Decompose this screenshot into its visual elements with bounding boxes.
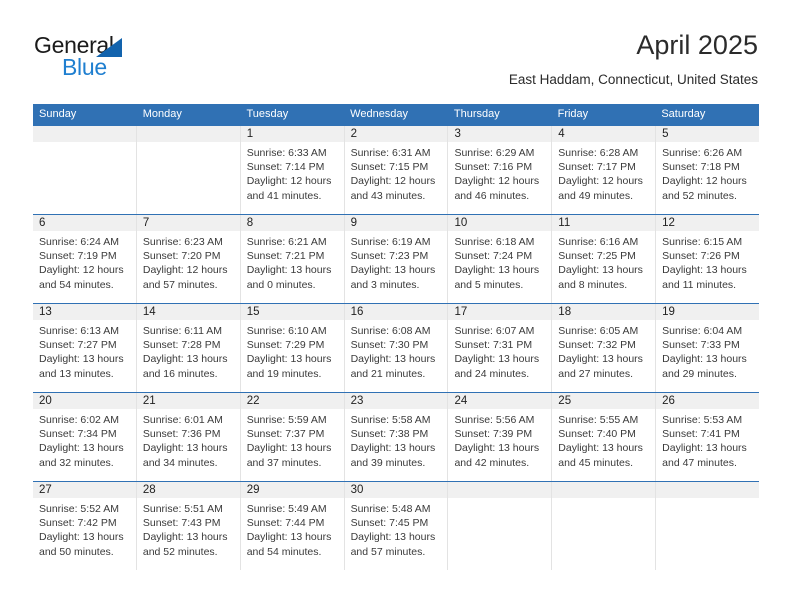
sunset-text: Sunset: 7:16 PM bbox=[454, 160, 545, 174]
weekday-header-saturday: Saturday bbox=[655, 104, 759, 125]
day-cell[interactable]: 11Sunrise: 6:16 AMSunset: 7:25 PMDayligh… bbox=[551, 215, 655, 303]
day-astronomy-info: Sunrise: 6:01 AMSunset: 7:36 PMDaylight:… bbox=[137, 409, 240, 470]
day-cell[interactable]: 9Sunrise: 6:19 AMSunset: 7:23 PMDaylight… bbox=[344, 215, 448, 303]
sunset-text: Sunset: 7:30 PM bbox=[351, 338, 442, 352]
sunset-text: Sunset: 7:34 PM bbox=[39, 427, 130, 441]
day-astronomy-info: Sunrise: 5:59 AMSunset: 7:37 PMDaylight:… bbox=[241, 409, 344, 470]
sunrise-text: Sunrise: 6:13 AM bbox=[39, 324, 130, 338]
weekday-header-wednesday: Wednesday bbox=[344, 104, 448, 125]
day-number: 15 bbox=[241, 304, 344, 320]
sunrise-text: Sunrise: 6:33 AM bbox=[247, 146, 338, 160]
day-astronomy-info: Sunrise: 6:13 AMSunset: 7:27 PMDaylight:… bbox=[33, 320, 136, 381]
day-number: 30 bbox=[345, 482, 448, 498]
day-astronomy-info: Sunrise: 5:58 AMSunset: 7:38 PMDaylight:… bbox=[345, 409, 448, 470]
weekday-header-sunday: Sunday bbox=[33, 104, 137, 125]
day-number: 22 bbox=[241, 393, 344, 409]
daylight-text-line1: Daylight: 12 hours bbox=[143, 263, 234, 277]
daylight-text-line2: and 50 minutes. bbox=[39, 545, 130, 559]
sunrise-text: Sunrise: 6:05 AM bbox=[558, 324, 649, 338]
day-cell-empty bbox=[33, 126, 136, 214]
sunrise-text: Sunrise: 5:55 AM bbox=[558, 413, 649, 427]
daylight-text-line2: and 21 minutes. bbox=[351, 367, 442, 381]
day-number: 28 bbox=[137, 482, 240, 498]
daylight-text-line1: Daylight: 13 hours bbox=[143, 530, 234, 544]
sunset-text: Sunset: 7:27 PM bbox=[39, 338, 130, 352]
sunset-text: Sunset: 7:45 PM bbox=[351, 516, 442, 530]
page-header: General Blue April 2025 East Haddam, Con… bbox=[34, 28, 758, 92]
sunrise-text: Sunrise: 6:16 AM bbox=[558, 235, 649, 249]
daylight-text-line2: and 34 minutes. bbox=[143, 456, 234, 470]
day-number: 10 bbox=[448, 215, 551, 231]
calendar-page: General Blue April 2025 East Haddam, Con… bbox=[0, 0, 792, 612]
weekday-header-monday: Monday bbox=[137, 104, 241, 125]
day-astronomy-info: Sunrise: 6:26 AMSunset: 7:18 PMDaylight:… bbox=[656, 142, 759, 203]
sunset-text: Sunset: 7:43 PM bbox=[143, 516, 234, 530]
daylight-text-line1: Daylight: 13 hours bbox=[351, 530, 442, 544]
sunset-text: Sunset: 7:39 PM bbox=[454, 427, 545, 441]
day-number: 2 bbox=[345, 126, 448, 142]
day-astronomy-info: Sunrise: 6:28 AMSunset: 7:17 PMDaylight:… bbox=[552, 142, 655, 203]
sunset-text: Sunset: 7:40 PM bbox=[558, 427, 649, 441]
daylight-text-line2: and 41 minutes. bbox=[247, 189, 338, 203]
day-cell[interactable]: 1Sunrise: 6:33 AMSunset: 7:14 PMDaylight… bbox=[240, 126, 344, 214]
daylight-text-line2: and 24 minutes. bbox=[454, 367, 545, 381]
sunrise-text: Sunrise: 5:51 AM bbox=[143, 502, 234, 516]
sunrise-text: Sunrise: 6:24 AM bbox=[39, 235, 130, 249]
week-row: 20Sunrise: 6:02 AMSunset: 7:34 PMDayligh… bbox=[33, 392, 759, 481]
day-number: 17 bbox=[448, 304, 551, 320]
weekday-header-friday: Friday bbox=[552, 104, 656, 125]
day-number: 9 bbox=[345, 215, 448, 231]
daylight-text-line2: and 11 minutes. bbox=[662, 278, 753, 292]
daylight-text-line2: and 43 minutes. bbox=[351, 189, 442, 203]
day-number: 21 bbox=[137, 393, 240, 409]
sunset-text: Sunset: 7:23 PM bbox=[351, 249, 442, 263]
day-number: 18 bbox=[552, 304, 655, 320]
daylight-text-line1: Daylight: 13 hours bbox=[247, 352, 338, 366]
sunset-text: Sunset: 7:24 PM bbox=[454, 249, 545, 263]
daylight-text-line2: and 54 minutes. bbox=[39, 278, 130, 292]
sunrise-text: Sunrise: 6:08 AM bbox=[351, 324, 442, 338]
day-cell[interactable]: 10Sunrise: 6:18 AMSunset: 7:24 PMDayligh… bbox=[447, 215, 551, 303]
sunset-text: Sunset: 7:28 PM bbox=[143, 338, 234, 352]
weekday-header-thursday: Thursday bbox=[448, 104, 552, 125]
daylight-text-line1: Daylight: 13 hours bbox=[558, 352, 649, 366]
sunset-text: Sunset: 7:29 PM bbox=[247, 338, 338, 352]
sunrise-text: Sunrise: 5:58 AM bbox=[351, 413, 442, 427]
daylight-text-line2: and 29 minutes. bbox=[662, 367, 753, 381]
daylight-text-line1: Daylight: 13 hours bbox=[454, 441, 545, 455]
daylight-text-line1: Daylight: 13 hours bbox=[247, 530, 338, 544]
day-cell[interactable]: 27Sunrise: 5:52 AMSunset: 7:42 PMDayligh… bbox=[33, 482, 136, 570]
sunset-text: Sunset: 7:38 PM bbox=[351, 427, 442, 441]
sunset-text: Sunset: 7:20 PM bbox=[143, 249, 234, 263]
day-astronomy-info: Sunrise: 5:55 AMSunset: 7:40 PMDaylight:… bbox=[552, 409, 655, 470]
daylight-text-line1: Daylight: 13 hours bbox=[662, 263, 753, 277]
day-astronomy-info: Sunrise: 6:08 AMSunset: 7:30 PMDaylight:… bbox=[345, 320, 448, 381]
daylight-text-line1: Daylight: 13 hours bbox=[454, 263, 545, 277]
day-cell[interactable]: 15Sunrise: 6:10 AMSunset: 7:29 PMDayligh… bbox=[240, 304, 344, 392]
sunrise-text: Sunrise: 5:56 AM bbox=[454, 413, 545, 427]
day-cell[interactable]: 22Sunrise: 5:59 AMSunset: 7:37 PMDayligh… bbox=[240, 393, 344, 481]
daylight-text-line2: and 5 minutes. bbox=[454, 278, 545, 292]
week-row: 27Sunrise: 5:52 AMSunset: 7:42 PMDayligh… bbox=[33, 481, 759, 570]
day-cell[interactable]: 5Sunrise: 6:26 AMSunset: 7:18 PMDaylight… bbox=[655, 126, 759, 214]
week-row: 6Sunrise: 6:24 AMSunset: 7:19 PMDaylight… bbox=[33, 214, 759, 303]
sunset-text: Sunset: 7:44 PM bbox=[247, 516, 338, 530]
daylight-text-line1: Daylight: 12 hours bbox=[558, 174, 649, 188]
daylight-text-line2: and 52 minutes. bbox=[143, 545, 234, 559]
day-cell[interactable]: 25Sunrise: 5:55 AMSunset: 7:40 PMDayligh… bbox=[551, 393, 655, 481]
week-row: 13Sunrise: 6:13 AMSunset: 7:27 PMDayligh… bbox=[33, 303, 759, 392]
sunrise-text: Sunrise: 5:48 AM bbox=[351, 502, 442, 516]
day-number bbox=[448, 482, 551, 498]
day-number: 13 bbox=[33, 304, 136, 320]
day-astronomy-info: Sunrise: 5:51 AMSunset: 7:43 PMDaylight:… bbox=[137, 498, 240, 559]
sunrise-text: Sunrise: 6:04 AM bbox=[662, 324, 753, 338]
daylight-text-line1: Daylight: 13 hours bbox=[247, 441, 338, 455]
day-cell[interactable]: 7Sunrise: 6:23 AMSunset: 7:20 PMDaylight… bbox=[136, 215, 240, 303]
day-number bbox=[33, 126, 136, 142]
daylight-text-line1: Daylight: 13 hours bbox=[247, 263, 338, 277]
daylight-text-line1: Daylight: 12 hours bbox=[351, 174, 442, 188]
daylight-text-line1: Daylight: 13 hours bbox=[39, 352, 130, 366]
day-cell[interactable]: 20Sunrise: 6:02 AMSunset: 7:34 PMDayligh… bbox=[33, 393, 136, 481]
sunset-text: Sunset: 7:25 PM bbox=[558, 249, 649, 263]
day-cell[interactable]: 26Sunrise: 5:53 AMSunset: 7:41 PMDayligh… bbox=[655, 393, 759, 481]
day-number: 26 bbox=[656, 393, 759, 409]
day-cell[interactable]: 8Sunrise: 6:21 AMSunset: 7:21 PMDaylight… bbox=[240, 215, 344, 303]
day-number: 4 bbox=[552, 126, 655, 142]
sunset-text: Sunset: 7:32 PM bbox=[558, 338, 649, 352]
day-astronomy-info: Sunrise: 5:49 AMSunset: 7:44 PMDaylight:… bbox=[241, 498, 344, 559]
sunset-text: Sunset: 7:18 PM bbox=[662, 160, 753, 174]
day-astronomy-info: Sunrise: 6:07 AMSunset: 7:31 PMDaylight:… bbox=[448, 320, 551, 381]
daylight-text-line2: and 0 minutes. bbox=[247, 278, 338, 292]
daylight-text-line1: Daylight: 13 hours bbox=[39, 530, 130, 544]
day-cell[interactable]: 3Sunrise: 6:29 AMSunset: 7:16 PMDaylight… bbox=[447, 126, 551, 214]
day-cell[interactable]: 24Sunrise: 5:56 AMSunset: 7:39 PMDayligh… bbox=[447, 393, 551, 481]
day-cell-empty bbox=[551, 482, 655, 570]
daylight-text-line1: Daylight: 13 hours bbox=[143, 441, 234, 455]
sunrise-text: Sunrise: 6:31 AM bbox=[351, 146, 442, 160]
day-cell[interactable]: 14Sunrise: 6:11 AMSunset: 7:28 PMDayligh… bbox=[136, 304, 240, 392]
sunrise-text: Sunrise: 5:52 AM bbox=[39, 502, 130, 516]
day-astronomy-info: Sunrise: 6:19 AMSunset: 7:23 PMDaylight:… bbox=[345, 231, 448, 292]
day-astronomy-info: Sunrise: 6:24 AMSunset: 7:19 PMDaylight:… bbox=[33, 231, 136, 292]
daylight-text-line1: Daylight: 12 hours bbox=[247, 174, 338, 188]
sunset-text: Sunset: 7:41 PM bbox=[662, 427, 753, 441]
sunrise-text: Sunrise: 6:19 AM bbox=[351, 235, 442, 249]
daylight-text-line1: Daylight: 13 hours bbox=[143, 352, 234, 366]
daylight-text-line2: and 3 minutes. bbox=[351, 278, 442, 292]
day-astronomy-info: Sunrise: 6:31 AMSunset: 7:15 PMDaylight:… bbox=[345, 142, 448, 203]
day-number: 25 bbox=[552, 393, 655, 409]
day-astronomy-info: Sunrise: 6:02 AMSunset: 7:34 PMDaylight:… bbox=[33, 409, 136, 470]
day-cell[interactable]: 23Sunrise: 5:58 AMSunset: 7:38 PMDayligh… bbox=[344, 393, 448, 481]
sunrise-text: Sunrise: 6:15 AM bbox=[662, 235, 753, 249]
sunrise-text: Sunrise: 6:18 AM bbox=[454, 235, 545, 249]
day-cell[interactable]: 30Sunrise: 5:48 AMSunset: 7:45 PMDayligh… bbox=[344, 482, 448, 570]
day-astronomy-info: Sunrise: 5:48 AMSunset: 7:45 PMDaylight:… bbox=[345, 498, 448, 559]
daylight-text-line1: Daylight: 13 hours bbox=[558, 441, 649, 455]
daylight-text-line2: and 37 minutes. bbox=[247, 456, 338, 470]
daylight-text-line1: Daylight: 13 hours bbox=[454, 352, 545, 366]
day-number: 11 bbox=[552, 215, 655, 231]
daylight-text-line2: and 13 minutes. bbox=[39, 367, 130, 381]
daylight-text-line1: Daylight: 12 hours bbox=[662, 174, 753, 188]
daylight-text-line1: Daylight: 13 hours bbox=[351, 441, 442, 455]
sunrise-text: Sunrise: 6:11 AM bbox=[143, 324, 234, 338]
daylight-text-line2: and 46 minutes. bbox=[454, 189, 545, 203]
daylight-text-line1: Daylight: 13 hours bbox=[662, 352, 753, 366]
day-cell[interactable]: 16Sunrise: 6:08 AMSunset: 7:30 PMDayligh… bbox=[344, 304, 448, 392]
day-cell-empty bbox=[136, 126, 240, 214]
day-number: 5 bbox=[656, 126, 759, 142]
day-astronomy-info: Sunrise: 6:23 AMSunset: 7:20 PMDaylight:… bbox=[137, 231, 240, 292]
sunrise-text: Sunrise: 6:01 AM bbox=[143, 413, 234, 427]
day-astronomy-info: Sunrise: 6:10 AMSunset: 7:29 PMDaylight:… bbox=[241, 320, 344, 381]
sunset-text: Sunset: 7:14 PM bbox=[247, 160, 338, 174]
sunset-text: Sunset: 7:31 PM bbox=[454, 338, 545, 352]
day-cell[interactable]: 19Sunrise: 6:04 AMSunset: 7:33 PMDayligh… bbox=[655, 304, 759, 392]
sunrise-text: Sunrise: 6:23 AM bbox=[143, 235, 234, 249]
day-number: 14 bbox=[137, 304, 240, 320]
day-number: 3 bbox=[448, 126, 551, 142]
daylight-text-line2: and 27 minutes. bbox=[558, 367, 649, 381]
daylight-text-line2: and 47 minutes. bbox=[662, 456, 753, 470]
day-astronomy-info: Sunrise: 6:29 AMSunset: 7:16 PMDaylight:… bbox=[448, 142, 551, 203]
daylight-text-line2: and 54 minutes. bbox=[247, 545, 338, 559]
daylight-text-line2: and 16 minutes. bbox=[143, 367, 234, 381]
day-cell[interactable]: 4Sunrise: 6:28 AMSunset: 7:17 PMDaylight… bbox=[551, 126, 655, 214]
day-astronomy-info: Sunrise: 6:11 AMSunset: 7:28 PMDaylight:… bbox=[137, 320, 240, 381]
day-number: 20 bbox=[33, 393, 136, 409]
sunset-text: Sunset: 7:37 PM bbox=[247, 427, 338, 441]
day-cell[interactable]: 6Sunrise: 6:24 AMSunset: 7:19 PMDaylight… bbox=[33, 215, 136, 303]
page-title: April 2025 bbox=[509, 28, 758, 62]
daylight-text-line2: and 8 minutes. bbox=[558, 278, 649, 292]
sunrise-text: Sunrise: 6:28 AM bbox=[558, 146, 649, 160]
daylight-text-line2: and 39 minutes. bbox=[351, 456, 442, 470]
sunset-text: Sunset: 7:42 PM bbox=[39, 516, 130, 530]
daylight-text-line1: Daylight: 12 hours bbox=[39, 263, 130, 277]
day-astronomy-info: Sunrise: 6:18 AMSunset: 7:24 PMDaylight:… bbox=[448, 231, 551, 292]
day-astronomy-info: Sunrise: 6:15 AMSunset: 7:26 PMDaylight:… bbox=[656, 231, 759, 292]
logo-text-blue: Blue bbox=[62, 54, 107, 81]
day-astronomy-info: Sunrise: 5:53 AMSunset: 7:41 PMDaylight:… bbox=[656, 409, 759, 470]
day-number: 7 bbox=[137, 215, 240, 231]
sunrise-text: Sunrise: 6:21 AM bbox=[247, 235, 338, 249]
sunrise-text: Sunrise: 6:10 AM bbox=[247, 324, 338, 338]
daylight-text-line2: and 32 minutes. bbox=[39, 456, 130, 470]
day-astronomy-info: Sunrise: 6:21 AMSunset: 7:21 PMDaylight:… bbox=[241, 231, 344, 292]
daylight-text-line1: Daylight: 13 hours bbox=[39, 441, 130, 455]
daylight-text-line1: Daylight: 13 hours bbox=[351, 263, 442, 277]
weekday-header-row: Sunday Monday Tuesday Wednesday Thursday… bbox=[33, 104, 759, 125]
day-number: 16 bbox=[345, 304, 448, 320]
day-number: 6 bbox=[33, 215, 136, 231]
day-number: 23 bbox=[345, 393, 448, 409]
calendar-grid: Sunday Monday Tuesday Wednesday Thursday… bbox=[33, 104, 759, 570]
day-number bbox=[137, 126, 240, 142]
day-cell[interactable]: 13Sunrise: 6:13 AMSunset: 7:27 PMDayligh… bbox=[33, 304, 136, 392]
day-cell[interactable]: 21Sunrise: 6:01 AMSunset: 7:36 PMDayligh… bbox=[136, 393, 240, 481]
day-astronomy-info: Sunrise: 6:33 AMSunset: 7:14 PMDaylight:… bbox=[241, 142, 344, 203]
sunset-text: Sunset: 7:26 PM bbox=[662, 249, 753, 263]
page-subtitle: East Haddam, Connecticut, United States bbox=[509, 70, 758, 90]
day-cell[interactable]: 12Sunrise: 6:15 AMSunset: 7:26 PMDayligh… bbox=[655, 215, 759, 303]
generalblue-logo[interactable]: General Blue bbox=[34, 32, 234, 90]
daylight-text-line2: and 45 minutes. bbox=[558, 456, 649, 470]
day-number bbox=[656, 482, 759, 498]
sunrise-text: Sunrise: 6:26 AM bbox=[662, 146, 753, 160]
sunrise-text: Sunrise: 6:29 AM bbox=[454, 146, 545, 160]
day-number: 8 bbox=[241, 215, 344, 231]
day-number: 24 bbox=[448, 393, 551, 409]
daylight-text-line1: Daylight: 12 hours bbox=[454, 174, 545, 188]
day-number: 29 bbox=[241, 482, 344, 498]
daylight-text-line1: Daylight: 13 hours bbox=[662, 441, 753, 455]
title-block: April 2025 East Haddam, Connecticut, Uni… bbox=[509, 28, 758, 90]
sunset-text: Sunset: 7:33 PM bbox=[662, 338, 753, 352]
sunset-text: Sunset: 7:17 PM bbox=[558, 160, 649, 174]
day-cell[interactable]: 2Sunrise: 6:31 AMSunset: 7:15 PMDaylight… bbox=[344, 126, 448, 214]
daylight-text-line2: and 49 minutes. bbox=[558, 189, 649, 203]
day-number: 1 bbox=[241, 126, 344, 142]
day-cell[interactable]: 18Sunrise: 6:05 AMSunset: 7:32 PMDayligh… bbox=[551, 304, 655, 392]
daylight-text-line1: Daylight: 13 hours bbox=[351, 352, 442, 366]
sunset-text: Sunset: 7:15 PM bbox=[351, 160, 442, 174]
daylight-text-line2: and 57 minutes. bbox=[351, 545, 442, 559]
day-cell[interactable]: 17Sunrise: 6:07 AMSunset: 7:31 PMDayligh… bbox=[447, 304, 551, 392]
day-number: 27 bbox=[33, 482, 136, 498]
day-astronomy-info: Sunrise: 6:04 AMSunset: 7:33 PMDaylight:… bbox=[656, 320, 759, 381]
day-number bbox=[552, 482, 655, 498]
sunset-text: Sunset: 7:36 PM bbox=[143, 427, 234, 441]
sunrise-text: Sunrise: 6:02 AM bbox=[39, 413, 130, 427]
sunrise-text: Sunrise: 6:07 AM bbox=[454, 324, 545, 338]
day-astronomy-info: Sunrise: 6:05 AMSunset: 7:32 PMDaylight:… bbox=[552, 320, 655, 381]
day-astronomy-info: Sunrise: 5:56 AMSunset: 7:39 PMDaylight:… bbox=[448, 409, 551, 470]
daylight-text-line2: and 52 minutes. bbox=[662, 189, 753, 203]
daylight-text-line2: and 57 minutes. bbox=[143, 278, 234, 292]
daylight-text-line2: and 19 minutes. bbox=[247, 367, 338, 381]
weekday-header-tuesday: Tuesday bbox=[240, 104, 344, 125]
week-row: 1Sunrise: 6:33 AMSunset: 7:14 PMDaylight… bbox=[33, 125, 759, 214]
day-cell[interactable]: 28Sunrise: 5:51 AMSunset: 7:43 PMDayligh… bbox=[136, 482, 240, 570]
day-cell[interactable]: 29Sunrise: 5:49 AMSunset: 7:44 PMDayligh… bbox=[240, 482, 344, 570]
sunrise-text: Sunrise: 5:49 AM bbox=[247, 502, 338, 516]
daylight-text-line2: and 42 minutes. bbox=[454, 456, 545, 470]
day-number: 19 bbox=[656, 304, 759, 320]
day-astronomy-info: Sunrise: 5:52 AMSunset: 7:42 PMDaylight:… bbox=[33, 498, 136, 559]
day-astronomy-info: Sunrise: 6:16 AMSunset: 7:25 PMDaylight:… bbox=[552, 231, 655, 292]
day-cell-empty bbox=[655, 482, 759, 570]
daylight-text-line1: Daylight: 13 hours bbox=[558, 263, 649, 277]
sunset-text: Sunset: 7:19 PM bbox=[39, 249, 130, 263]
sunset-text: Sunset: 7:21 PM bbox=[247, 249, 338, 263]
sunrise-text: Sunrise: 5:53 AM bbox=[662, 413, 753, 427]
day-number: 12 bbox=[656, 215, 759, 231]
day-cell-empty bbox=[447, 482, 551, 570]
sunrise-text: Sunrise: 5:59 AM bbox=[247, 413, 338, 427]
